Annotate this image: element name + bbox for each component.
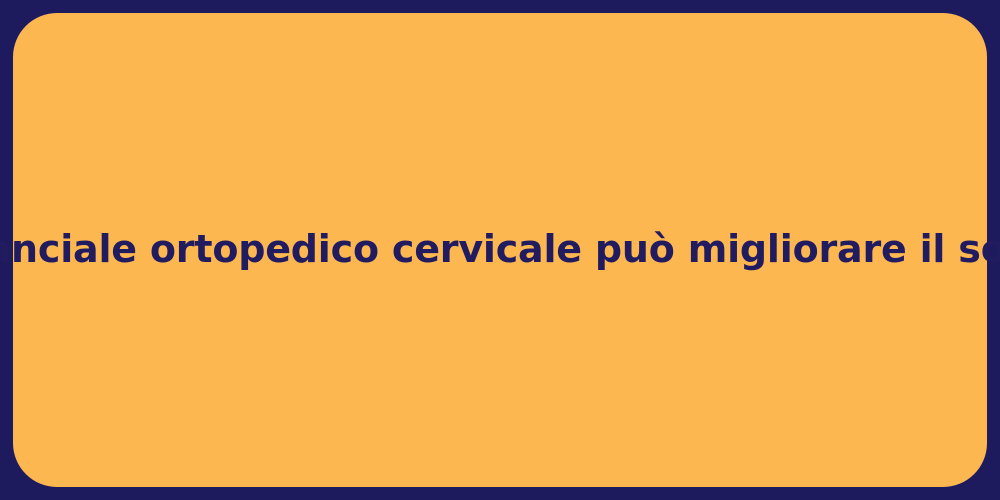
screenshot-canvas: Il guanciale ortopedico cervicale può mi… [0, 0, 1000, 500]
page-title: Il guanciale ortopedico cervicale può mi… [0, 226, 1000, 274]
card-content: Il guanciale ortopedico cervicale può mi… [13, 226, 987, 274]
orange-card: Il guanciale ortopedico cervicale può mi… [13, 13, 987, 487]
